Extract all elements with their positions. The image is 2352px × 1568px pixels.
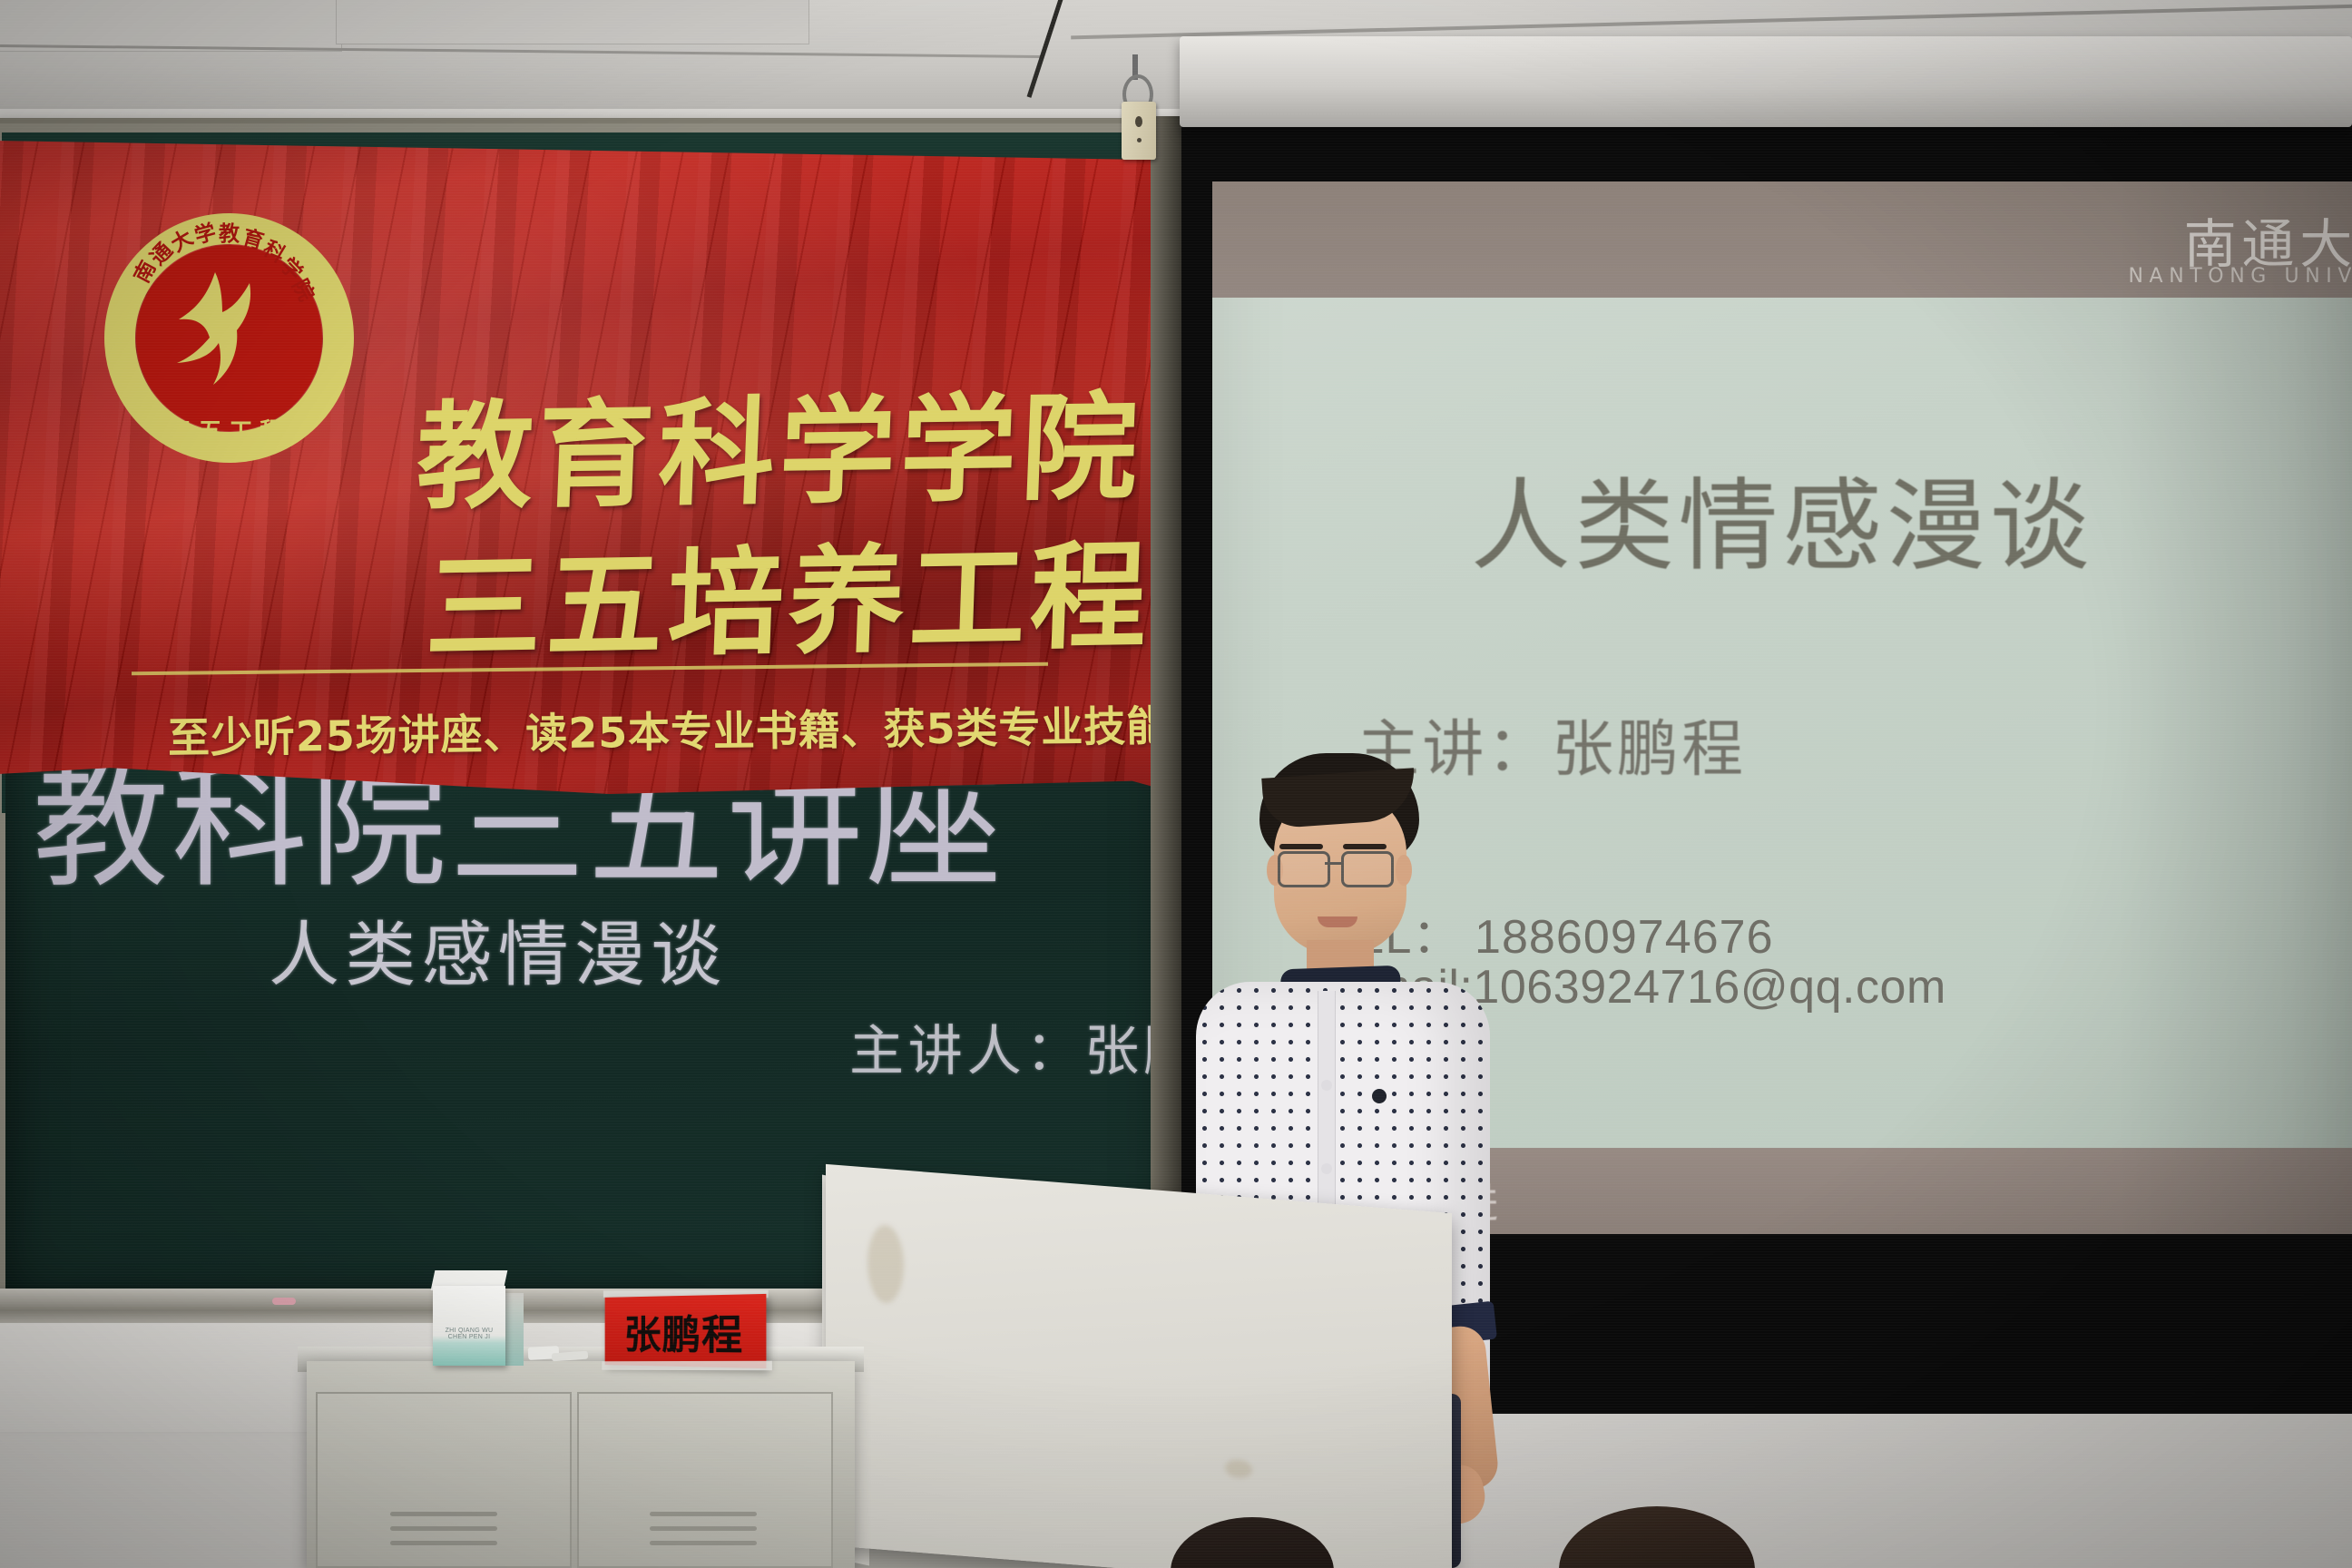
switch-box-icon[interactable] [1122, 102, 1156, 160]
podium-top-surface [826, 1164, 1452, 1568]
chalkboard-subtitle: 人类感情漫谈 [269, 898, 727, 1000]
presenter-ear-right [1396, 855, 1412, 886]
screen-roller-housing [1180, 36, 2352, 127]
cabinet-vent [390, 1541, 497, 1545]
tissue-box-side [505, 1293, 524, 1366]
glasses-bridge [1325, 862, 1341, 865]
lapel-mic-icon [1372, 1089, 1387, 1103]
cabinet-vent [390, 1526, 497, 1531]
presenter-brow-left [1279, 844, 1323, 849]
podium-stain [1225, 1458, 1252, 1478]
ceiling-panel [336, 0, 809, 44]
shirt-button [1321, 1080, 1332, 1091]
placard-base [602, 1361, 772, 1371]
cabinet-vent [650, 1526, 757, 1531]
glasses-icon [1278, 851, 1330, 887]
name-placard: 张鹏程 [605, 1294, 767, 1368]
glasses-icon [1341, 851, 1394, 887]
seal-ring-char: 教 [219, 216, 240, 247]
ceiling-panel [0, 0, 342, 52]
cabinet-vent [650, 1541, 757, 1545]
tissue-box [433, 1286, 505, 1366]
placard-name-text: 张鹏程 [624, 1301, 743, 1362]
banner-subheadline: 三五培养工程 [423, 502, 1154, 682]
shirt-button [1321, 1163, 1332, 1174]
cabinet-vent [390, 1512, 497, 1516]
seal-bottom-text: 三五工程 [136, 413, 322, 446]
presenter-brow-right [1343, 844, 1387, 849]
cabinet-vent [650, 1512, 757, 1516]
screen-shading [2116, 181, 2352, 1234]
chalkboard-speaker-line: 主讲人：张鹏程 [849, 1007, 1172, 1086]
classroom-photo-scene: 教科院三五讲座 人类感情漫谈 主讲人：张鹏程 南通大学教育科学院 三五工程 教育… [0, 0, 2352, 1568]
tissue-box-label: ZHI QIANG WU CHEN PEN JI [436, 1328, 502, 1340]
presenter-mouth [1318, 916, 1357, 927]
podium-stain [867, 1223, 904, 1304]
chalk-icon [272, 1298, 296, 1305]
seal-bird-icon [159, 263, 277, 390]
